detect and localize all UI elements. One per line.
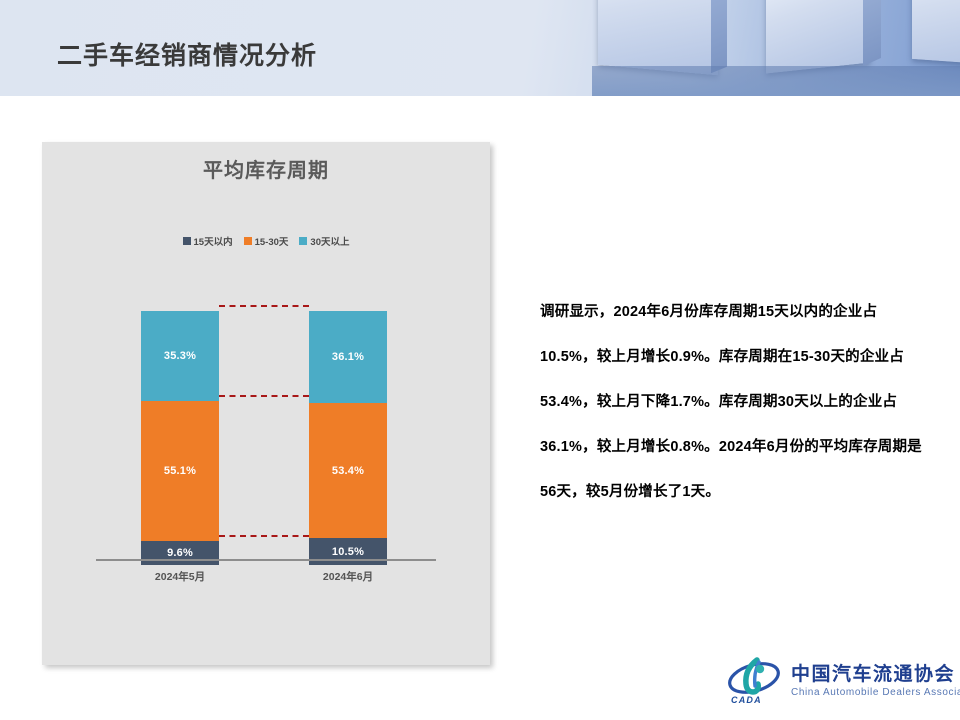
page-header: 二手车经销商情况分析 <box>0 0 960 96</box>
cada-logo: CADA 中国汽车流通协会 China Automobile Dealers A… <box>727 653 942 709</box>
bar-segment-15-30-1[interactable]: 53.4% <box>309 403 387 539</box>
bar-segment-30-plus-0[interactable]: 35.3% <box>141 311 219 401</box>
legend-swatch-icon-1 <box>244 237 252 245</box>
chart-panel: 平均库存周期 15天以内 15-30天 30天以上 35.3% 55.1% 9.… <box>42 142 490 665</box>
connector-line-bottom <box>219 535 309 537</box>
logo-name-cn: 中国汽车流通协会 <box>791 664 960 686</box>
legend-item-2[interactable]: 30天以上 <box>299 234 349 248</box>
cada-mark-text: CADA <box>731 695 762 705</box>
bar-segment-under-15-1[interactable]: 10.5% <box>309 538 387 565</box>
bar-segment-under-15-0[interactable]: 9.6% <box>141 541 219 565</box>
header-floor-shadow <box>592 66 960 96</box>
logo-wordmark: 中国汽车流通协会 China Automobile Dealers Associ… <box>791 664 960 699</box>
bar-stack-2024-05[interactable]: 35.3% 55.1% 9.6% <box>141 311 219 565</box>
logo-name-en: China Automobile Dealers Association <box>791 686 960 699</box>
analysis-paragraph: 调研显示，2024年6月份库存周期15天以内的企业占10.5%，较上月增长0.9… <box>540 290 930 515</box>
legend-swatch-icon-2 <box>299 237 307 245</box>
bar-segment-30-plus-1[interactable]: 36.1% <box>309 311 387 403</box>
legend-item-1[interactable]: 15-30天 <box>244 234 289 248</box>
legend-label-1: 15-30天 <box>255 234 289 248</box>
plot-area: 35.3% 55.1% 9.6% 36.1% 53.4% 10.5% 2024年… <box>42 305 490 565</box>
legend-swatch-icon-0 <box>183 237 191 245</box>
legend-label-0: 15天以内 <box>194 234 233 248</box>
cada-swirl-emblem-icon: CADA <box>727 656 783 706</box>
x-axis-line <box>96 559 436 561</box>
x-axis-label-0: 2024年5月 <box>110 569 250 584</box>
connector-line-top <box>219 305 309 307</box>
x-axis-label-1: 2024年6月 <box>278 569 418 584</box>
chart-legend: 15天以内 15-30天 30天以上 <box>42 234 490 248</box>
bar-stack-2024-06[interactable]: 36.1% 53.4% 10.5% <box>309 311 387 565</box>
page-title: 二手车经销商情况分析 <box>57 36 317 72</box>
connector-line-mid <box>219 395 309 397</box>
legend-label-2: 30天以上 <box>310 234 349 248</box>
legend-item-0[interactable]: 15天以内 <box>183 234 233 248</box>
bar-segment-15-30-0[interactable]: 55.1% <box>141 401 219 541</box>
chart-title: 平均库存周期 <box>42 154 490 183</box>
